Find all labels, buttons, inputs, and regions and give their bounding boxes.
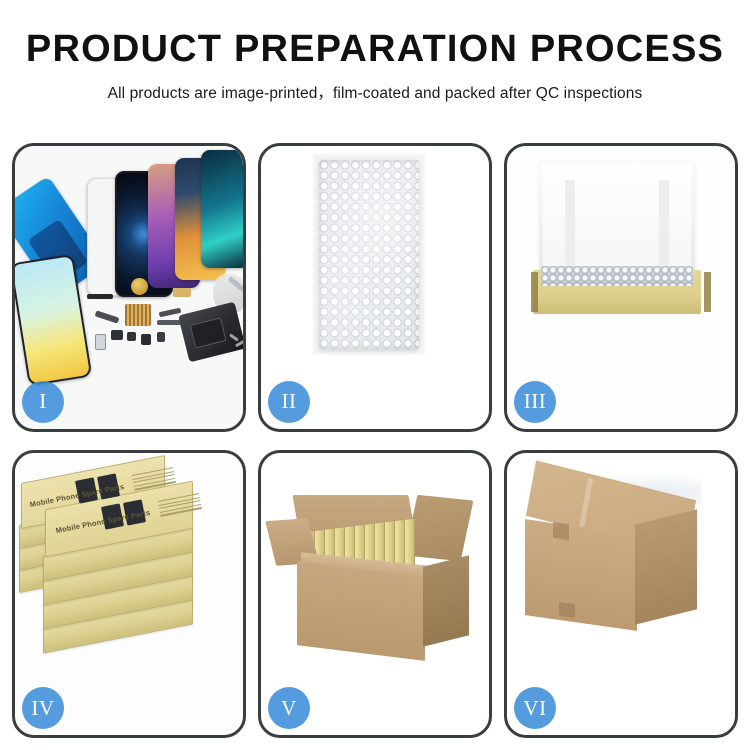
carton-tape-mark: [553, 521, 569, 539]
strip-part-icon: [87, 294, 113, 299]
step-panel-4: Mobile Phone Spare Parts Mobile Phone Sp…: [12, 450, 246, 739]
spare-parts-group: [87, 278, 243, 370]
carton-body-front: [297, 561, 425, 661]
small-part-icon: [157, 332, 165, 342]
step-panel-3: III: [504, 143, 738, 432]
phone-housing-icon: [178, 302, 243, 363]
step-panel-6: VI: [504, 450, 738, 739]
carton-tape-mark: [559, 601, 575, 617]
coil-part-icon: [131, 278, 148, 295]
bubble-wrap-icon: [319, 160, 419, 350]
sealed-carton-front: [525, 519, 637, 631]
lid-tab-right: [659, 180, 669, 280]
step-badge-4: IV: [22, 687, 64, 729]
step-badge-5: V: [268, 687, 310, 729]
carton-body-side: [423, 555, 469, 646]
phone-teal-icon: [201, 150, 243, 268]
tray-edge-left: [531, 272, 538, 312]
step-badge-2: II: [268, 381, 310, 423]
chip-part-icon: [125, 304, 151, 326]
step-panel-1: I: [12, 143, 246, 432]
lid-tab-left: [565, 180, 575, 280]
small-part-icon: [111, 330, 123, 340]
step-panel-5: V: [258, 450, 492, 739]
bubble-wrapped-contents-icon: [541, 266, 693, 286]
flex-cable-icon: [159, 308, 182, 317]
flex-cable-icon: [95, 310, 120, 323]
connector-part-icon: [173, 288, 191, 297]
tray-edge-right: [704, 272, 711, 312]
small-part-icon: [95, 334, 106, 350]
sealed-carton-side: [635, 509, 697, 624]
step-badge-6: VI: [514, 687, 556, 729]
steps-grid: I II III: [12, 143, 738, 738]
header: PRODUCT PREPARATION PROCESS All products…: [0, 0, 750, 103]
box-lid-icon: [539, 160, 695, 276]
page-subtitle: All products are image-printed，film-coat…: [0, 81, 750, 103]
small-part-icon: [127, 332, 136, 341]
step-panel-2: II: [258, 143, 492, 432]
page-title: PRODUCT PREPARATION PROCESS: [0, 30, 750, 70]
product-preparation-infographic: PRODUCT PREPARATION PROCESS All products…: [0, 0, 750, 750]
step-badge-3: III: [514, 381, 556, 423]
small-part-icon: [141, 334, 151, 345]
step-badge-1: I: [22, 381, 64, 423]
